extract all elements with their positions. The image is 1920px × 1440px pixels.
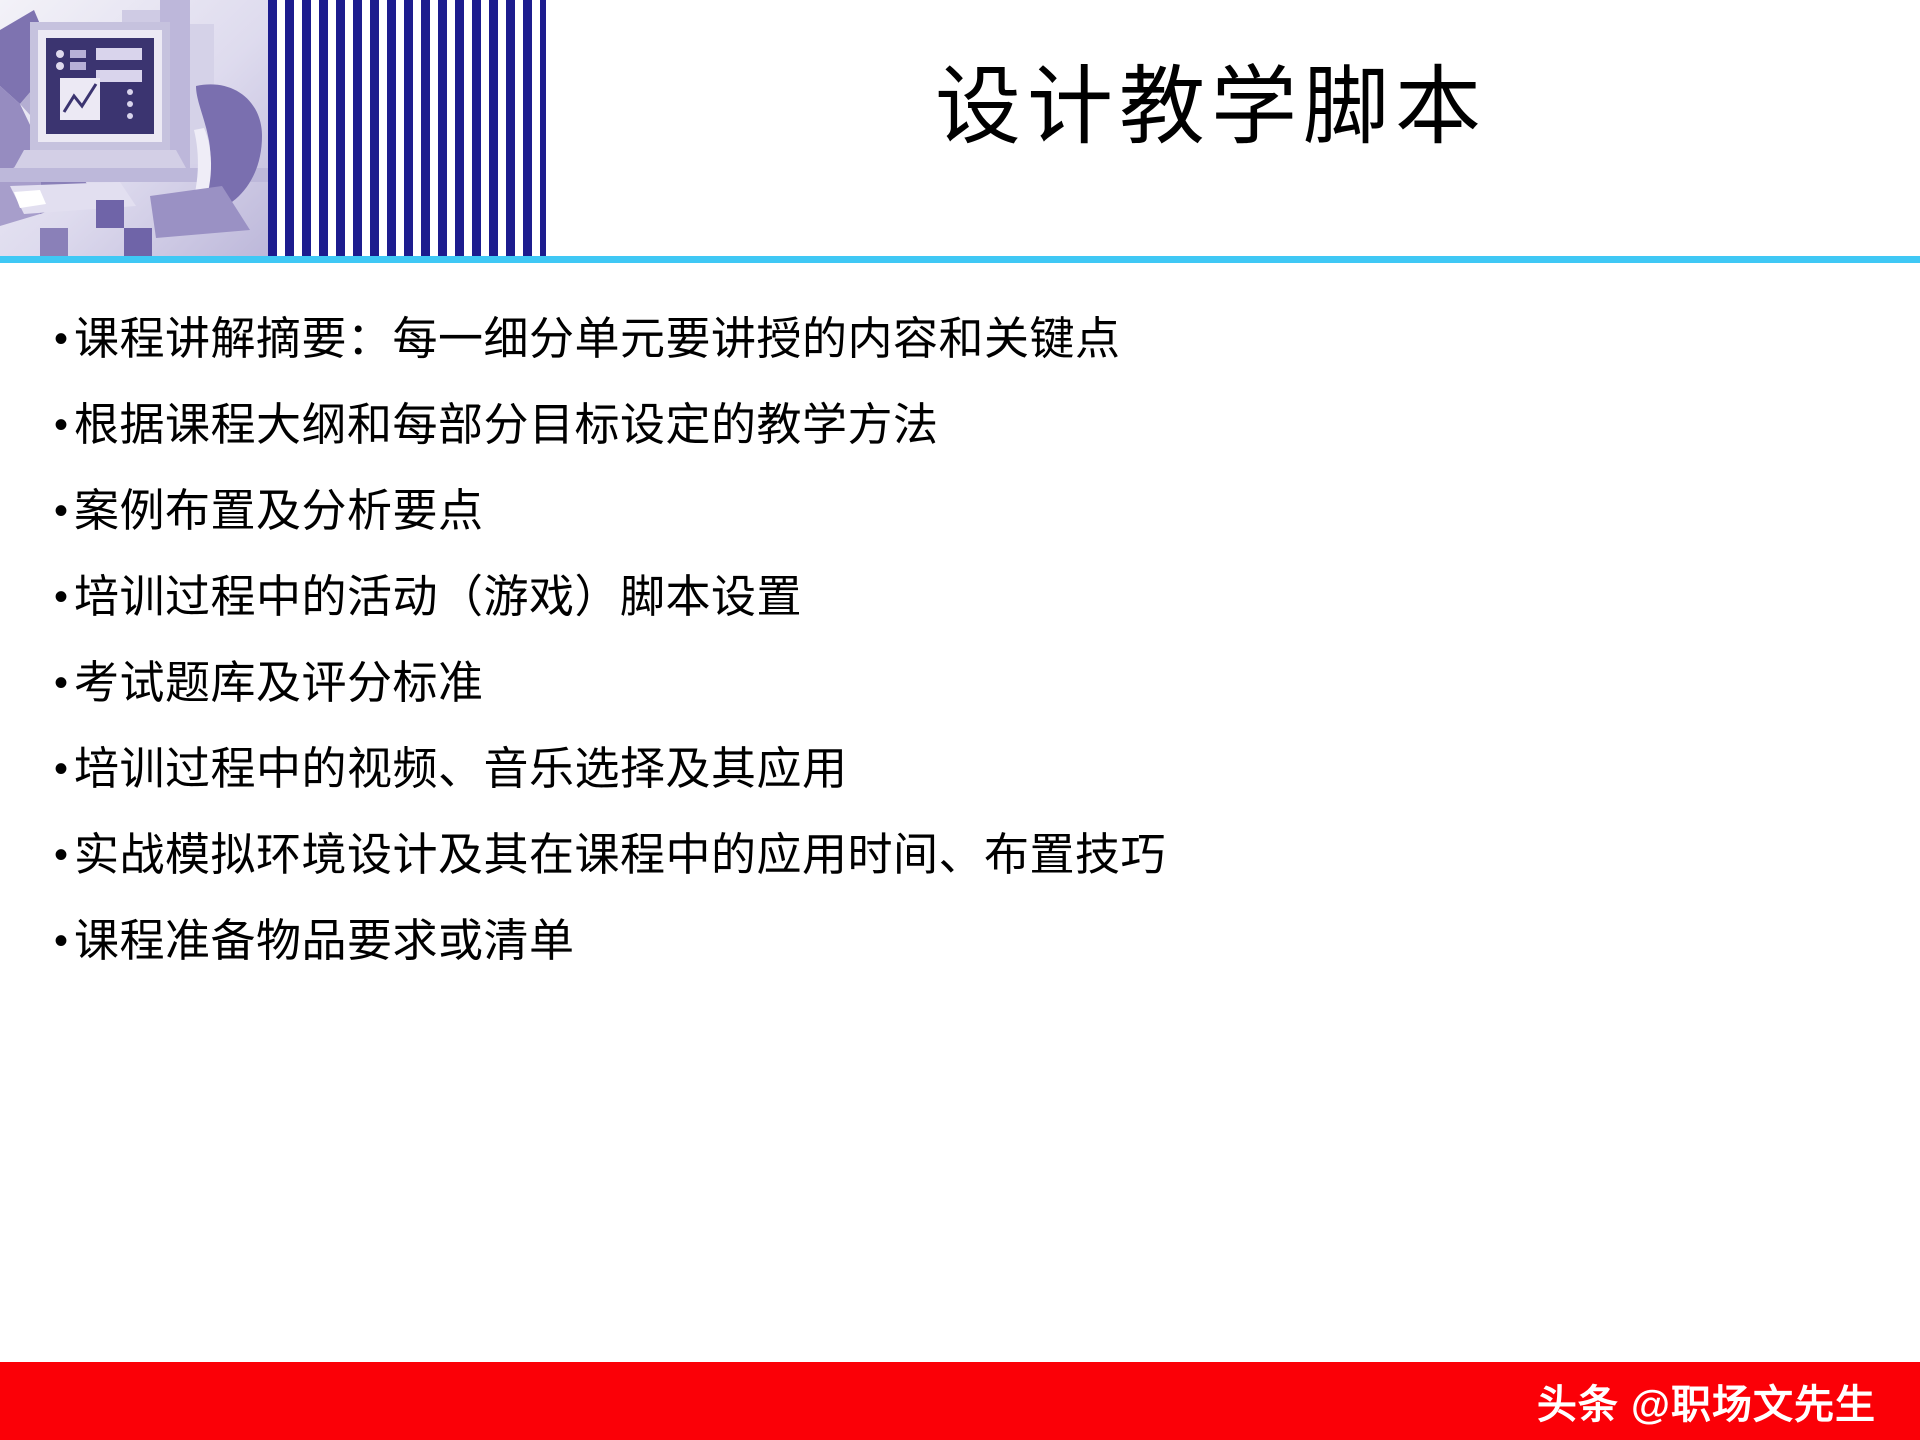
list-item-label: 考试题库及评分标准 [74, 640, 484, 726]
list-item: • 培训过程中的活动（游戏）脚本设置 [54, 554, 1874, 640]
footer-bar: 头条 @职场文先生 [0, 1362, 1920, 1440]
list-item: • 课程讲解摘要：每一细分单元要讲授的内容和关键点 [54, 296, 1874, 382]
list-item-label: 培训过程中的活动（游戏）脚本设置 [74, 554, 802, 640]
slide: 设计教学脚本 • 课程讲解摘要：每一细分单元要讲授的内容和关键点 • 根据课程大… [0, 0, 1920, 1440]
bullet-dot-icon: • [54, 726, 74, 812]
bullet-list: • 课程讲解摘要：每一细分单元要讲授的内容和关键点 • 根据课程大纲和每部分目标… [54, 296, 1874, 984]
footer-watermark: 头条 @职场文先生 [1537, 1372, 1876, 1430]
header-photo-decoration [0, 0, 268, 256]
bullet-dot-icon: • [54, 554, 74, 640]
computer-illustration-icon [0, 0, 268, 256]
bullet-dot-icon: • [54, 812, 74, 898]
bullet-dot-icon: • [54, 382, 74, 468]
list-item-label: 根据课程大纲和每部分目标设定的教学方法 [74, 382, 939, 468]
bullet-dot-icon: • [54, 296, 74, 382]
list-item: • 课程准备物品要求或清单 [54, 898, 1874, 984]
header-divider-rule [0, 256, 1920, 263]
header-stripes-decoration [268, 0, 546, 256]
list-item: • 培训过程中的视频、音乐选择及其应用 [54, 726, 1874, 812]
page-title: 设计教学脚本 [546, 62, 1876, 152]
list-item: • 案例布置及分析要点 [54, 468, 1874, 554]
list-item: • 实战模拟环境设计及其在课程中的应用时间、布置技巧 [54, 812, 1874, 898]
bullet-dot-icon: • [54, 640, 74, 726]
list-item-label: 实战模拟环境设计及其在课程中的应用时间、布置技巧 [74, 812, 1166, 898]
list-item: • 考试题库及评分标准 [54, 640, 1874, 726]
list-item-label: 课程讲解摘要：每一细分单元要讲授的内容和关键点 [74, 296, 1121, 382]
list-item-label: 课程准备物品要求或清单 [74, 898, 575, 984]
bullet-dot-icon: • [54, 468, 74, 554]
list-item: • 根据课程大纲和每部分目标设定的教学方法 [54, 382, 1874, 468]
slide-header: 设计教学脚本 [0, 0, 1920, 262]
bullet-dot-icon: • [54, 898, 74, 984]
list-item-label: 培训过程中的视频、音乐选择及其应用 [74, 726, 848, 812]
list-item-label: 案例布置及分析要点 [74, 468, 484, 554]
